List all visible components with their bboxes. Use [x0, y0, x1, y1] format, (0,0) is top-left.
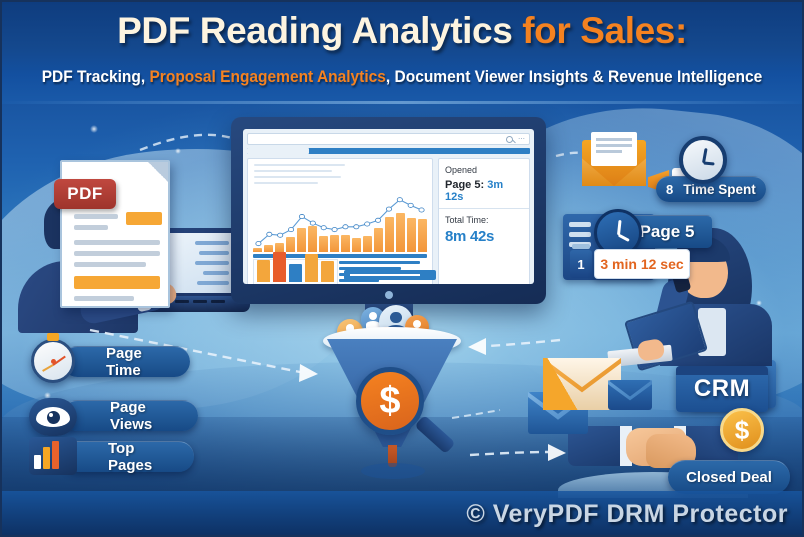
- search-icon-handle: [512, 140, 516, 144]
- horizontal-bar: [339, 255, 392, 258]
- badge-time-spent-label: Time Spent: [673, 182, 766, 197]
- page-index-chip: 1: [570, 250, 592, 278]
- badge-time-spent-count: 8: [666, 182, 673, 197]
- text-placeholder-lines: [254, 164, 357, 188]
- badge-closed-deal-label: Closed Deal: [686, 469, 772, 486]
- pdf-document: PDF: [60, 160, 170, 308]
- monitor-power-indicator: [385, 291, 393, 299]
- pdf-badge: PDF: [54, 179, 116, 209]
- sparkle-icon: [90, 125, 98, 133]
- dashboard-body: Opened Page 5: 3m 12s Total Time: 8m 42s: [247, 158, 530, 284]
- kpi-page-row: Page 5: 3m 12s: [445, 179, 523, 203]
- dashboard-kpi-panel: Opened Page 5: 3m 12s Total Time: 8m 42s: [438, 158, 530, 284]
- clock-icon: [679, 136, 727, 184]
- watermark: © VeryPDF DRM Protector: [466, 500, 788, 529]
- subtitle-part-3: , Document Viewer Insights & Revenue Int…: [386, 68, 762, 86]
- magnifier-handle: [414, 415, 455, 454]
- email-icon: [608, 380, 652, 410]
- title-accent: for Sales:: [522, 10, 687, 51]
- page-subtitle: PDF Tracking, Proposal Engagement Analyt…: [24, 68, 780, 87]
- monitor-screen: ⋯: [243, 129, 534, 284]
- browser-tab-bar[interactable]: [247, 148, 530, 154]
- infographic-canvas: PDF Reading Analytics for Sales: PDF Tra…: [0, 0, 804, 537]
- kpi-page-label: Page 5:: [445, 179, 484, 191]
- combo-chart: [253, 188, 427, 252]
- badge-top-pages[interactable]: Top Pages: [62, 441, 194, 472]
- magnifier-dollar-icon: $: [356, 367, 424, 435]
- crm-label: CRM: [694, 375, 750, 403]
- title-primary: PDF Reading Analytics: [117, 10, 522, 51]
- page-fold-corner: [148, 162, 168, 182]
- analytics-monitor: ⋯: [231, 117, 546, 304]
- chip-tab: [572, 244, 590, 249]
- mini-bar-chart: [253, 259, 338, 284]
- subtitle-part-1: PDF Tracking,: [42, 68, 150, 86]
- dashboard-footer-bar: [344, 270, 436, 280]
- mini-bar: [321, 261, 334, 282]
- crm-window-titlebar: [676, 366, 768, 375]
- badge-page-time-label: Page Time: [92, 345, 190, 379]
- badge-closed-deal[interactable]: Closed Deal: [668, 460, 790, 494]
- kpi-opened-label: Opened: [445, 165, 523, 175]
- dashboard-chart-panel: [247, 158, 433, 284]
- browser-address-bar[interactable]: ⋯: [247, 133, 530, 145]
- chart-line-series: [253, 188, 427, 252]
- horizontal-bar: [339, 261, 420, 264]
- kpi-total-label: Total Time:: [445, 215, 523, 225]
- badge-top-pages-label: Top Pages: [94, 440, 194, 474]
- menu-icon[interactable]: ⋯: [518, 138, 525, 142]
- email-open-icon: [582, 140, 646, 186]
- sales-funnel: $: [317, 305, 467, 490]
- header-banner: PDF Reading Analytics for Sales: PDF Tra…: [0, 0, 804, 104]
- kpi-total-time: Total Time: 8m 42s: [439, 209, 529, 250]
- kpi-total-value: 8m 42s: [445, 228, 523, 245]
- badge-page-5-label: Page 5: [640, 222, 695, 242]
- funnel-shadow: [361, 463, 425, 479]
- eye-icon: [29, 398, 77, 436]
- sparkle-icon: [175, 148, 181, 154]
- bar-chart-icon: [29, 437, 77, 475]
- mini-bar: [305, 254, 318, 282]
- badge-duration: 3 min 12 sec: [594, 249, 690, 279]
- badge-page-views-label: Page Views: [96, 399, 198, 433]
- stopwatch-icon: [31, 339, 75, 383]
- mini-bar: [273, 252, 286, 282]
- mini-bar: [257, 260, 270, 282]
- dollar-coin-icon: $: [720, 408, 764, 452]
- mini-bar: [289, 264, 302, 282]
- subtitle-accent: Proposal Engagement Analytics: [149, 68, 385, 86]
- badge-page-time[interactable]: Page Time: [62, 346, 190, 377]
- kpi-opened: Opened Page 5: 3m 12s: [439, 159, 529, 209]
- badge-page-views[interactable]: Page Views: [62, 400, 198, 431]
- page-title: PDF Reading Analytics for Sales:: [0, 10, 804, 52]
